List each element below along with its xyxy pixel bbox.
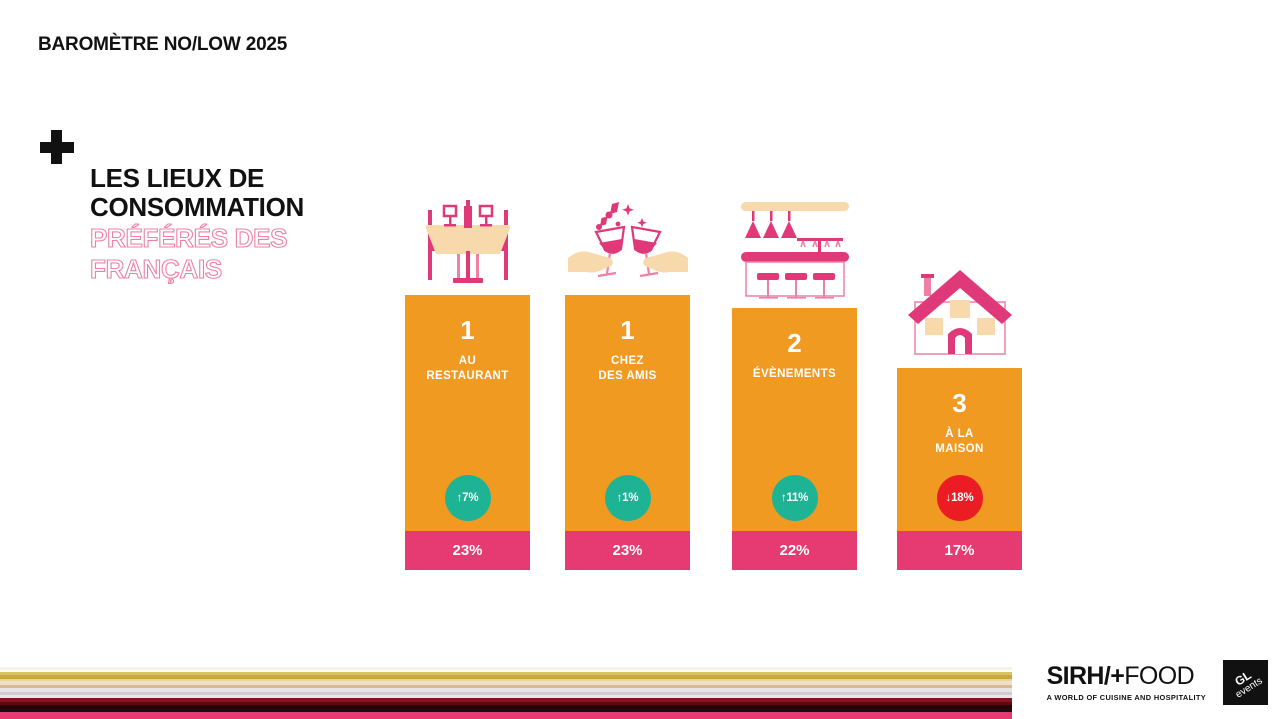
page-subtitle-line2: FRANÇAIS <box>90 255 420 284</box>
bar-counter-icon <box>732 196 857 301</box>
slide-kicker: BAROMÈTRE NO/LOW 2025 <box>38 34 287 56</box>
delta-badge: ↑7% <box>445 475 491 521</box>
delta-badge: ↑11% <box>772 475 818 521</box>
gl-logo-text: GL events <box>1227 665 1264 700</box>
restaurant-table-icon <box>405 196 530 288</box>
rank-value: 1 <box>620 317 634 343</box>
rank-value: 3 <box>952 390 966 416</box>
sirha-tagline: A WORLD OF CUISINE AND HOSPITALITY <box>1047 693 1206 702</box>
sirha-logo-light: FOOD <box>1124 662 1194 690</box>
plus-icon <box>40 130 74 164</box>
bar-label: À LA MAISON <box>935 427 983 457</box>
percent-value: 23% <box>565 531 690 570</box>
title-block: LES LIEUX DE CONSOMMATION PRÉFÉRÉS DES F… <box>90 164 420 284</box>
page-title-line1: LES LIEUX DE <box>90 164 420 193</box>
bar-label-line1: AU <box>459 355 476 367</box>
bar-friends: 1 CHEZ DES AMIS ↑1% 23% <box>565 295 690 570</box>
gl-events-logo: GL events <box>1223 660 1268 705</box>
bar-restaurant: 1 AU RESTAURANT ↑7% 23% <box>405 295 530 570</box>
page-subtitle-line1: PRÉFÉRÉS DES <box>90 224 420 253</box>
percent-value: 22% <box>732 531 857 570</box>
bar-label-line2: DES AMIS <box>598 370 656 382</box>
rank-value: 2 <box>787 330 801 356</box>
bar-label: ÉVÈNEMENTS <box>753 367 836 382</box>
sirha-food-logo: SIRH/+FOOD A WORLD OF CUISINE AND HOSPIT… <box>1047 664 1206 702</box>
bar-home: 3 À LA MAISON ↓18% 17% <box>897 368 1022 570</box>
bar-label: CHEZ DES AMIS <box>598 354 656 384</box>
bar-label-line2: RESTAURANT <box>426 370 508 382</box>
bar-label-line2: MAISON <box>935 443 983 455</box>
page-title-line2: CONSOMMATION <box>90 193 420 222</box>
percent-value: 23% <box>405 531 530 570</box>
bar-label-line1: CHEZ <box>611 355 644 367</box>
percent-value: 17% <box>897 531 1022 570</box>
sirha-logo-text: SIRH/+FOOD <box>1047 664 1206 689</box>
bar-label-line1: À LA <box>945 428 973 440</box>
bar-events: 2 ÉVÈNEMENTS ↑11% 22% <box>732 308 857 570</box>
slide-root: BAROMÈTRE NO/LOW 2025 LES LIEUX DE CONSO… <box>0 0 1280 719</box>
rank-value: 1 <box>460 317 474 343</box>
footer-logos: SIRH/+FOOD A WORLD OF CUISINE AND HOSPIT… <box>1047 660 1268 705</box>
delta-badge: ↑1% <box>605 475 651 521</box>
bar-label-line1: ÉVÈNEMENTS <box>753 368 836 380</box>
cheers-glasses-icon <box>565 196 690 288</box>
sirha-logo-bold: SIRH/+ <box>1047 662 1125 690</box>
footer-stripe-band <box>0 667 1012 719</box>
delta-badge: ↓18% <box>937 475 983 521</box>
footer-stripe <box>0 716 1012 719</box>
house-icon <box>897 262 1022 362</box>
bar-label: AU RESTAURANT <box>426 354 508 384</box>
